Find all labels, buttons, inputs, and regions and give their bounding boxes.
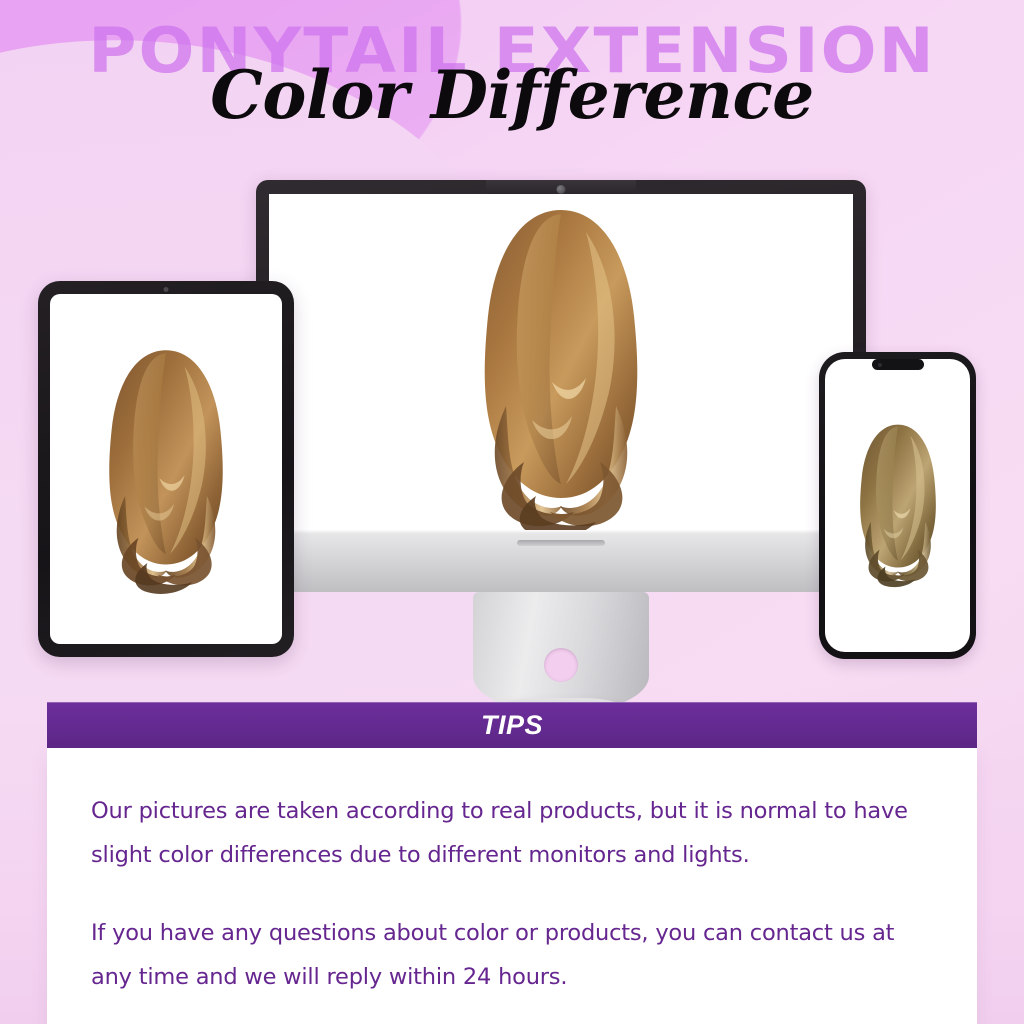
product-infographic: PONYTAIL EXTENSION Color Difference bbox=[0, 0, 1024, 1024]
page-title: Color Difference bbox=[0, 62, 1024, 128]
speaker-slot-icon bbox=[517, 540, 605, 546]
stand-cutout bbox=[544, 648, 578, 682]
front-camera-icon bbox=[164, 287, 169, 292]
tips-heading: TIPS bbox=[481, 710, 543, 741]
tablet-device bbox=[38, 281, 294, 657]
product-image-phone bbox=[836, 397, 960, 612]
smartphone-device bbox=[819, 352, 976, 659]
monitor-bezel bbox=[256, 180, 866, 530]
monitor-screen bbox=[269, 194, 853, 530]
monitor-stand-neck bbox=[473, 592, 649, 712]
header-block: PONYTAIL EXTENSION Color Difference bbox=[0, 0, 1024, 160]
tablet-bezel bbox=[38, 281, 294, 657]
desktop-monitor bbox=[256, 180, 866, 592]
phone-screen bbox=[825, 359, 970, 652]
tips-paragraph-1: Our pictures are taken according to real… bbox=[91, 790, 933, 878]
tablet-screen bbox=[50, 294, 282, 644]
tips-card: TIPS Our pictures are taken according to… bbox=[47, 702, 977, 1024]
product-image-monitor bbox=[436, 206, 686, 530]
dynamic-island-icon bbox=[872, 359, 924, 370]
tips-paragraph-2: If you have any questions about color or… bbox=[91, 912, 933, 1000]
product-image-tablet bbox=[73, 320, 259, 620]
monitor-chin bbox=[256, 530, 866, 592]
phone-bezel bbox=[819, 352, 976, 659]
tips-body: Our pictures are taken according to real… bbox=[47, 748, 977, 1024]
webcam-icon bbox=[557, 185, 566, 194]
tips-header-bar: TIPS bbox=[47, 702, 977, 748]
